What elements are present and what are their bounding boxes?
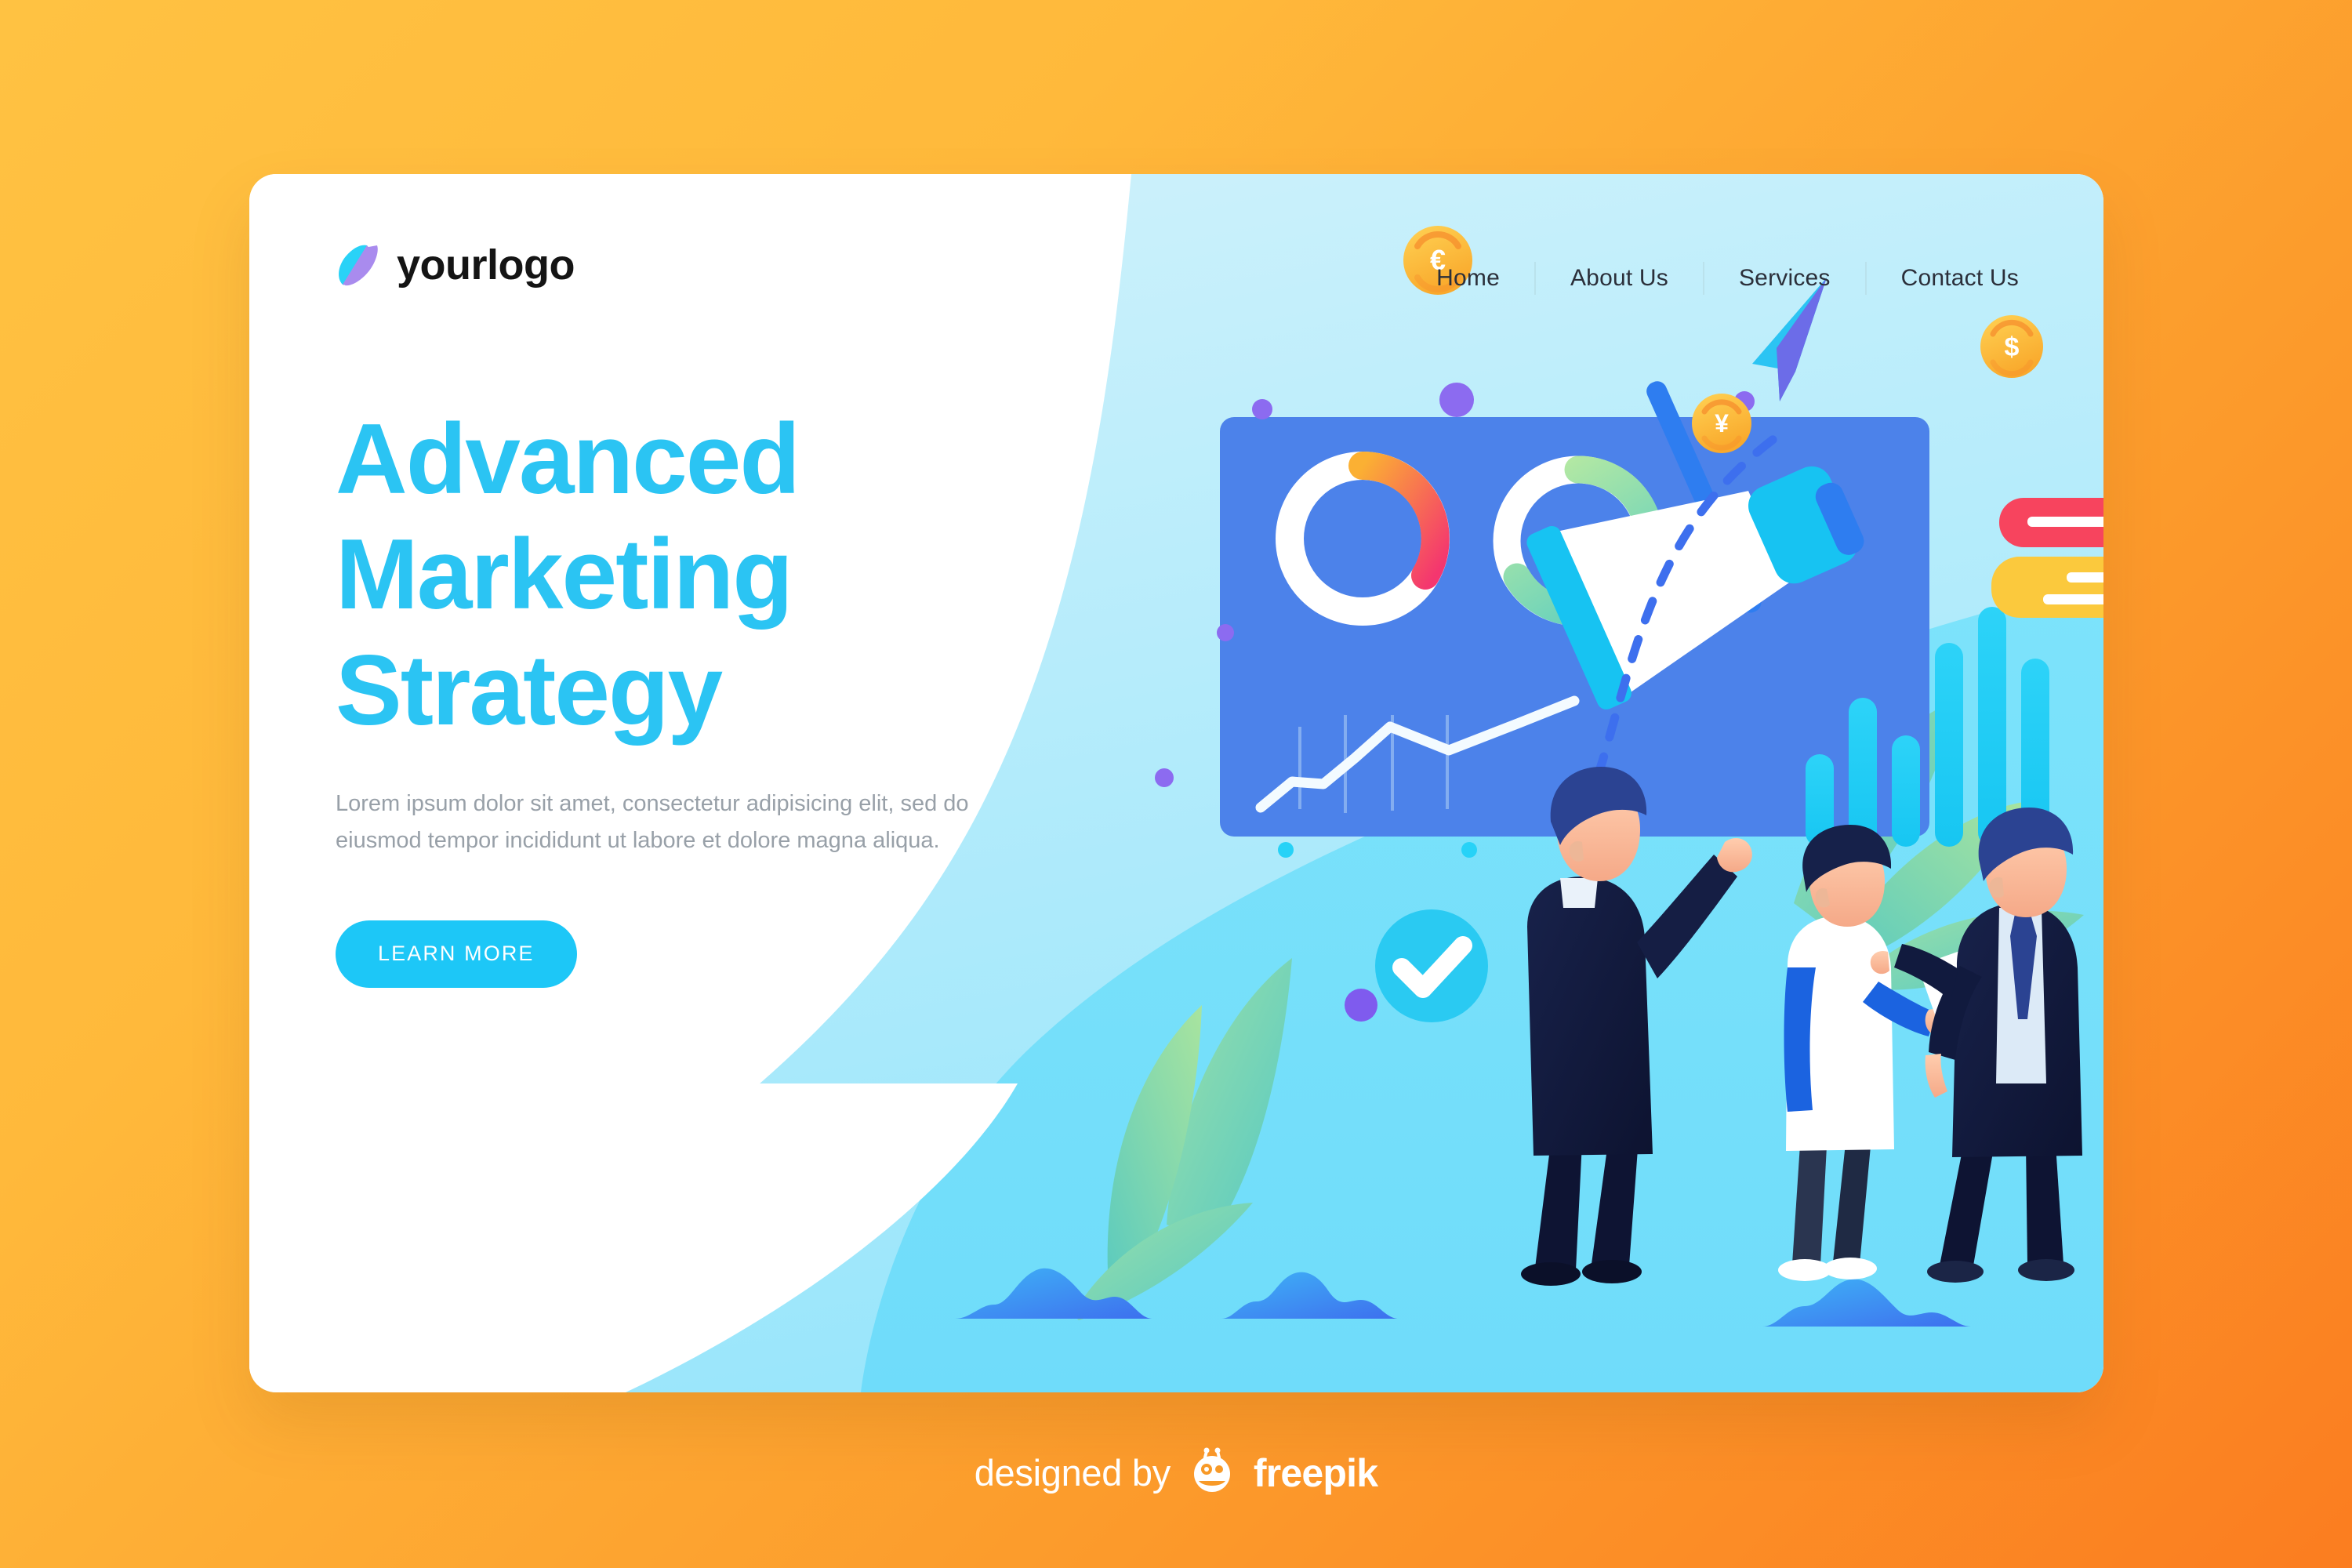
main-nav: Home About Us Services Contact Us [1402, 262, 2053, 295]
hero-body-text: Lorem ipsum dolor sit amet, consectetur … [336, 786, 1033, 859]
check-badge-icon [1375, 909, 1488, 1022]
dot-purple-6 [1345, 989, 1377, 1022]
freepik-brand-label: freepik [1254, 1450, 1377, 1496]
page-title: Advanced Marketing Strategy [336, 401, 1120, 748]
logo[interactable]: yourlogo [336, 241, 575, 289]
headline-line-2: Marketing [336, 518, 792, 630]
nav-item-contact-us[interactable]: Contact Us [1867, 265, 2053, 292]
coin-yen: ¥ [1692, 394, 1751, 453]
freepik-robot-icon [1188, 1446, 1236, 1499]
footer-credit: designed by freepik [0, 1446, 2352, 1499]
nav-item-home[interactable]: Home [1402, 265, 1534, 292]
dot-purple-5 [1155, 768, 1174, 787]
nav-divider [1865, 262, 1867, 295]
svg-text:$: $ [2005, 332, 2020, 362]
headline-line-3: Strategy [336, 634, 721, 746]
nav-divider [1534, 262, 1536, 295]
nav-item-services[interactable]: Services [1704, 265, 1865, 292]
learn-more-button[interactable]: LEARN MORE [336, 920, 577, 988]
svg-text:¥: ¥ [1715, 409, 1729, 437]
dot-purple-4 [1217, 624, 1234, 641]
nav-item-about-us[interactable]: About Us [1536, 265, 1703, 292]
logo-text: yourlogo [397, 244, 575, 286]
hero-text-column: Advanced Marketing Strategy Lorem ipsum … [336, 401, 1120, 988]
designed-by-label: designed by [975, 1451, 1171, 1494]
landing-page-card: € $ ¥ [249, 174, 2103, 1392]
dot-purple-1 [1439, 383, 1474, 417]
nav-divider [1703, 262, 1704, 295]
site-header: yourlogo Home About Us Services Contact … [249, 174, 2103, 331]
dot-purple-2 [1252, 399, 1272, 419]
leaf-split-icon [336, 241, 384, 289]
headline-line-1: Advanced [336, 403, 799, 514]
